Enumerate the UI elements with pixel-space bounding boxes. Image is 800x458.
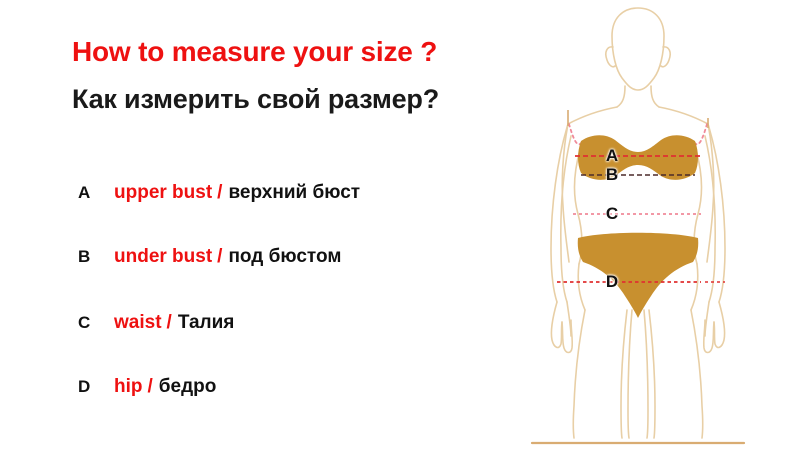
body-figure-panel: A B C D xyxy=(505,0,800,458)
arm-right-outer-outline xyxy=(708,124,725,302)
leg-left-inner-outline xyxy=(621,310,627,438)
figure-letter-d: D xyxy=(606,272,618,292)
hand-left-outline xyxy=(551,302,562,347)
inner-thigh-left-crease xyxy=(628,310,632,438)
leg-right-inner-outline xyxy=(649,310,655,438)
instructions-panel: How to measure your size ? Как измерить … xyxy=(0,0,510,458)
bra-strap-left-dashed xyxy=(569,124,581,144)
measurement-row-d: D hip / бедро xyxy=(78,376,216,398)
figure-letter-a: A xyxy=(606,146,618,166)
measurement-label-en-a: upper bust xyxy=(114,182,212,204)
measurement-label-en-c: waist xyxy=(114,312,162,334)
bra-garment xyxy=(578,135,698,180)
figure-letter-c: C xyxy=(606,204,618,224)
hand-right-outline xyxy=(714,302,725,347)
size-guide-page: How to measure your size ? Как измерить … xyxy=(0,0,800,458)
leg-left-outer-outline xyxy=(573,310,585,438)
measurement-label-ru-a: верхний бюст xyxy=(228,182,360,204)
measurement-row-c: C waist / Талия xyxy=(78,312,234,334)
measurement-key-c: C xyxy=(78,313,104,333)
hip-right-outline xyxy=(691,264,698,310)
shoulder-right-outline xyxy=(659,107,708,124)
neck-right-outline xyxy=(651,86,659,107)
measurement-label-ru-d: бедро xyxy=(159,376,217,398)
measurement-separator-c: / xyxy=(167,312,172,334)
measurement-key-b: B xyxy=(78,247,104,267)
measurement-label-en-b: under bust xyxy=(114,246,212,268)
measurement-separator-b: / xyxy=(217,246,222,268)
hip-left-outline xyxy=(578,264,585,310)
arm-left-outer-outline xyxy=(551,124,568,302)
page-title-russian: Как измерить свой размер? xyxy=(72,84,439,115)
measurement-label-en-d: hip xyxy=(114,376,143,398)
measurement-row-b: B under bust / под бюстом xyxy=(78,246,341,268)
figure-letter-b: B xyxy=(606,165,618,185)
neck-left-outline xyxy=(617,86,625,107)
measurement-label-ru-b: под бюстом xyxy=(228,246,341,268)
measurement-separator-d: / xyxy=(148,376,153,398)
leg-right-outer-outline xyxy=(691,310,703,438)
measurement-label-ru-c: Талия xyxy=(178,312,235,334)
measurement-key-a: A xyxy=(78,183,104,203)
page-title-english: How to measure your size ? xyxy=(72,36,437,68)
measurement-row-a: A upper bust / верхний бюст xyxy=(78,182,360,204)
shoulder-left-outline xyxy=(568,107,617,124)
female-body-diagram-icon xyxy=(505,0,800,458)
hand-left-thumb xyxy=(567,302,571,336)
measurement-key-d: D xyxy=(78,377,104,397)
hand-right-thumb xyxy=(705,302,709,336)
measurement-separator-a: / xyxy=(217,182,222,204)
panty-garment xyxy=(578,233,699,318)
bra-strap-right-dashed xyxy=(695,124,707,144)
inner-thigh-right-crease xyxy=(644,310,648,438)
head-outline xyxy=(612,8,664,90)
